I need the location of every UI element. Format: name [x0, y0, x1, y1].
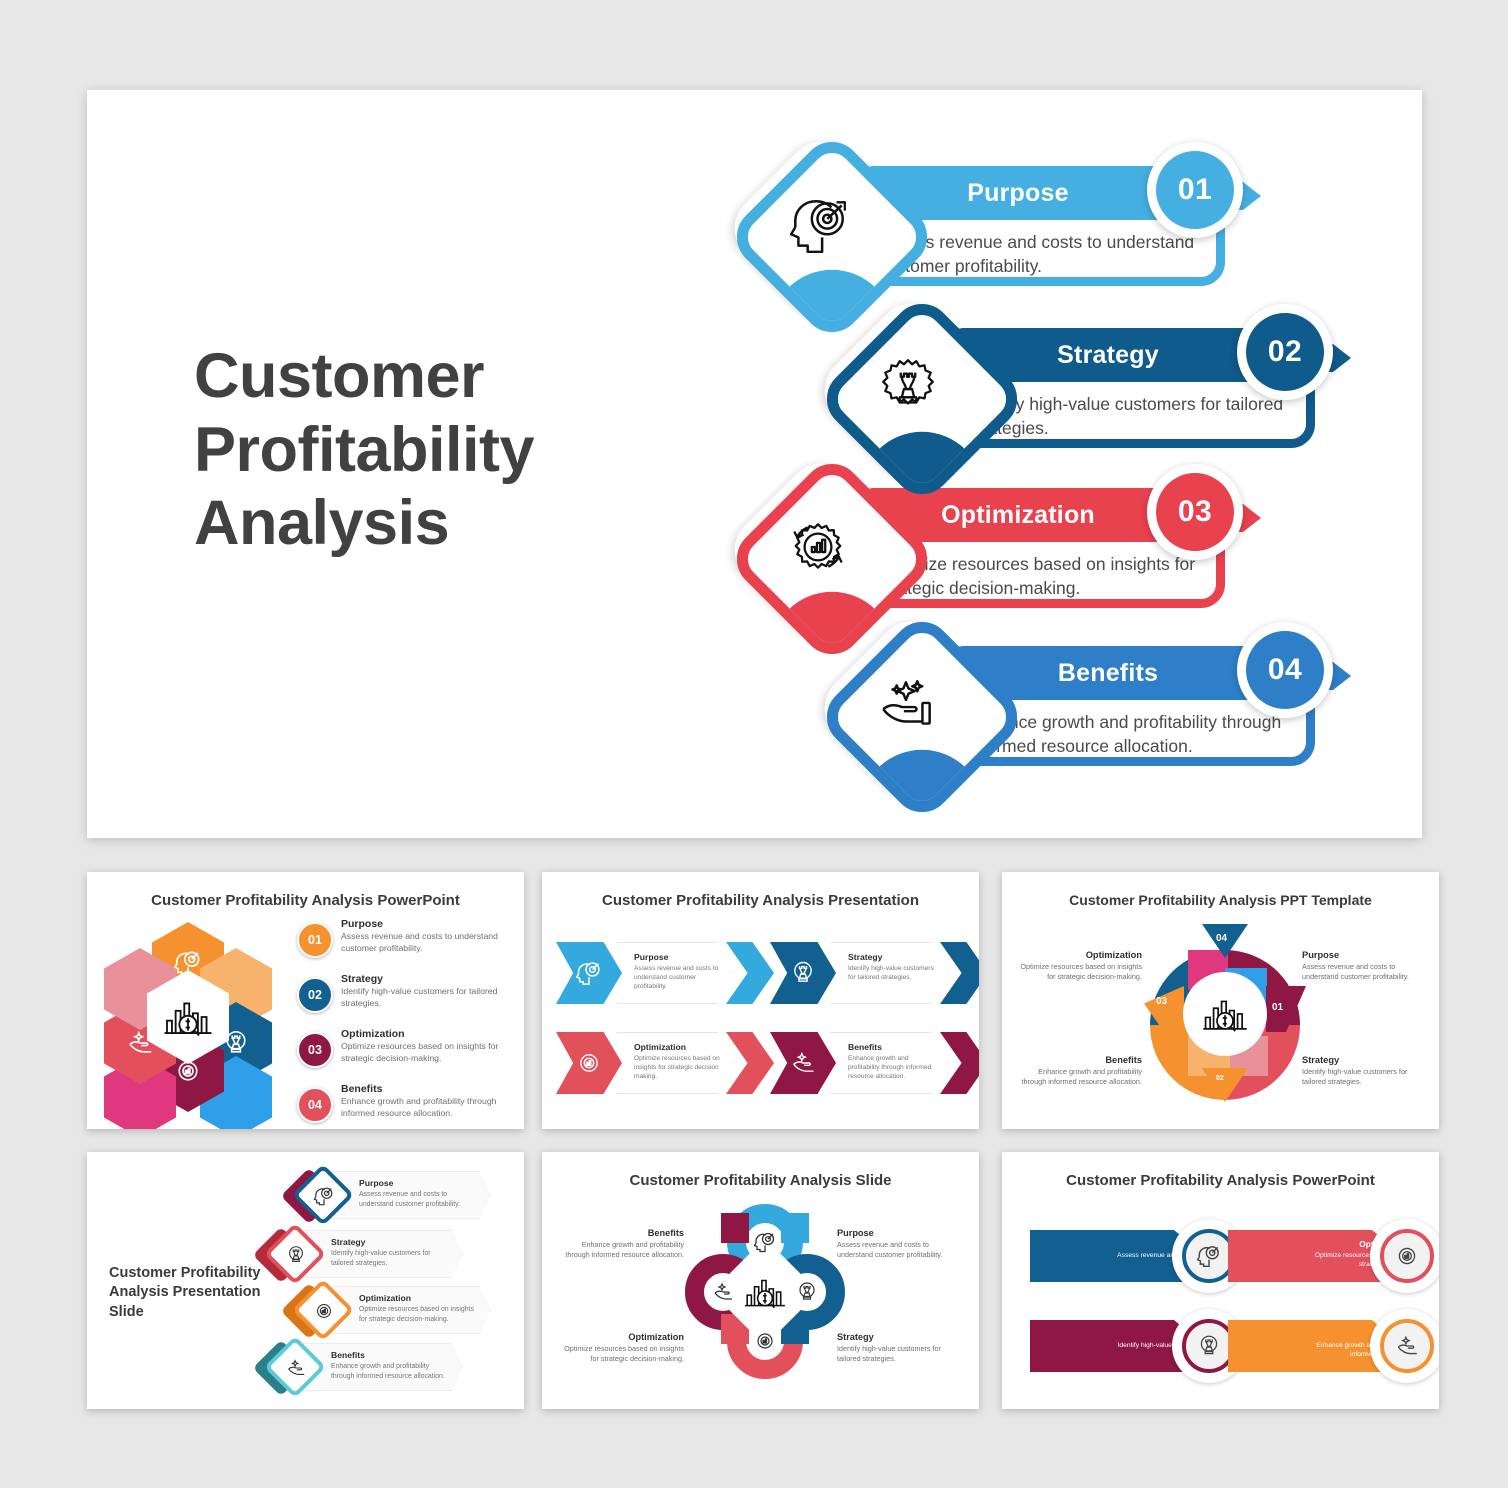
- thumbnail-title: Customer Profitability Analysis Presenta…: [542, 892, 979, 909]
- head-target-icon: [311, 1183, 337, 1209]
- step-number-badge: 02: [1237, 304, 1333, 400]
- chevron-strategy[interactable]: Strategy Identify high-value customers f…: [770, 942, 979, 1004]
- step-card-04[interactable]: Benefits Enhance growth and profitabilit…: [837, 628, 1337, 778]
- item-number: 02: [297, 977, 333, 1013]
- item-title: Strategy: [837, 1332, 965, 1342]
- item-title: Benefits: [331, 1350, 365, 1360]
- chevron-purpose[interactable]: Purpose Assess revenue and costs to unde…: [556, 942, 776, 1004]
- head-target-icon: [781, 188, 855, 262]
- chess-gear-icon: [792, 1277, 822, 1307]
- item-desc: Enhance growth and profitability through…: [556, 1240, 684, 1260]
- item-desc: Optimize resources based on insights for…: [1012, 962, 1142, 982]
- item-title: Optimization: [341, 1028, 405, 1040]
- item-desc: Assess revenue and costs to understand c…: [341, 931, 506, 954]
- item-title: Optimization: [556, 1332, 684, 1342]
- item-desc: Enhance growth and profitability through…: [341, 1096, 506, 1119]
- item-desc: Identify high-value customers for tailor…: [341, 986, 506, 1009]
- gear-chart-icon: [311, 1298, 337, 1324]
- step-number-badge: 04: [1237, 622, 1333, 718]
- diamond-row-purpose[interactable]: Purpose Assess revenue and costs to unde…: [289, 1170, 504, 1224]
- item-title: Benefits: [556, 1228, 684, 1238]
- hand-sparkle-icon: [283, 1355, 309, 1381]
- step-number: 03: [1156, 996, 1167, 1007]
- list-item[interactable]: 01 Purpose Assess revenue and costs to u…: [297, 918, 512, 966]
- hexagon-cluster-graphic: [97, 922, 287, 1112]
- thumbnail-title: Customer Profitability Analysis PPT Temp…: [1002, 892, 1439, 908]
- page-title: Customer Profitability Analysis: [194, 340, 614, 561]
- gear-chart-icon: [781, 510, 855, 584]
- label-purpose: Purpose Assess revenue and costs to unde…: [837, 1228, 965, 1260]
- item-desc: Assess revenue and costs to understand c…: [359, 1190, 481, 1209]
- item-title: Purpose: [634, 952, 668, 962]
- label-purpose: Purpose Assess revenue and costs to unde…: [1302, 950, 1432, 982]
- step-number-badge: 01: [1147, 142, 1243, 238]
- item-title: Purpose: [341, 918, 383, 930]
- chevron-optimization[interactable]: Optimization Optimize resources based on…: [556, 1032, 776, 1094]
- item-desc: Assess revenue and costs to understand c…: [634, 964, 720, 992]
- item-desc: Enhance growth and profitability through…: [1012, 1067, 1142, 1087]
- banner-purpose[interactable]: Purpose Assess revenue and costs to unde…: [1030, 1230, 1250, 1282]
- center-chart-icon: [1183, 972, 1267, 1056]
- numbered-list: 01 Purpose Assess revenue and costs to u…: [297, 918, 512, 1129]
- step-card-01[interactable]: Purpose Assess revenue and costs to unde…: [747, 148, 1247, 298]
- item-desc: Optimize resources based on insights for…: [341, 1041, 506, 1064]
- item-desc: Enhance growth and profitability through…: [331, 1362, 453, 1381]
- step-number: 01: [1272, 1002, 1283, 1013]
- step-number: 01: [1156, 151, 1234, 229]
- step-card-02[interactable]: Strategy Identify high-value customers f…: [837, 310, 1337, 460]
- chess-gear-icon: [770, 942, 836, 1004]
- chevron-benefits[interactable]: Benefits Enhance growth and profitabilit…: [770, 1032, 979, 1094]
- main-slide: Customer Profitability Analysis Purpose …: [87, 90, 1422, 838]
- item-desc: Optimize resources based on insights for…: [556, 1344, 684, 1364]
- item-desc: Assess revenue and costs to understand c…: [1302, 962, 1432, 982]
- diamond-row-optimization[interactable]: Optimization Optimize resources based on…: [289, 1285, 504, 1339]
- step-number: 03: [1156, 473, 1234, 551]
- item-title: Benefits: [1012, 1055, 1142, 1065]
- item-desc: Enhance growth and profitability through…: [848, 1054, 934, 1082]
- item-title: Optimization: [359, 1293, 411, 1303]
- item-desc: Identify high-value customers for tailor…: [1302, 1067, 1432, 1087]
- list-item[interactable]: 04 Benefits Enhance growth and profitabi…: [297, 1083, 512, 1129]
- list-item[interactable]: 03 Optimization Optimize resources based…: [297, 1028, 512, 1076]
- thumbnail-chevron-arrows[interactable]: Customer Profitability Analysis Presenta…: [542, 872, 979, 1129]
- item-number: 04: [297, 1087, 333, 1123]
- chess-gear-icon: [871, 350, 945, 424]
- step-number-badge: 03: [1147, 464, 1243, 560]
- list-item[interactable]: 02 Strategy Identify high-value customer…: [297, 973, 512, 1021]
- gear-chart-icon: [750, 1326, 780, 1356]
- thumbnail-title: Customer Profitability Analysis Slide: [542, 1172, 979, 1189]
- clover-graphic: [685, 1204, 845, 1379]
- item-title: Purpose: [1302, 950, 1432, 960]
- infographic-steps: Purpose Assess revenue and costs to unde…: [717, 120, 1407, 820]
- head-target-icon: [556, 942, 622, 1004]
- step-number: 02: [1216, 1075, 1224, 1082]
- item-number: 01: [297, 922, 333, 958]
- step-number: 04: [1216, 933, 1227, 944]
- thumbnail-diamond-ribbons[interactable]: Customer Profitability Analysis Presenta…: [87, 1152, 524, 1409]
- label-strategy: Strategy Identify high-value customers f…: [1302, 1055, 1432, 1087]
- hand-sparkle-icon: [708, 1277, 738, 1307]
- thumbnail-circular-arrows[interactable]: Customer Profitability Analysis PPT Temp…: [1002, 872, 1439, 1129]
- item-title: Optimization: [634, 1042, 686, 1052]
- thumbnail-banner-circles[interactable]: Customer Profitability Analysis PowerPoi…: [1002, 1152, 1439, 1409]
- item-title: Purpose: [837, 1228, 965, 1238]
- thumbnail-grid: Customer Profitability Analysis PowerPoi…: [0, 865, 1508, 1425]
- item-title: Purpose: [359, 1178, 393, 1188]
- item-title: Strategy: [341, 973, 383, 985]
- hand-sparkle-icon: [871, 668, 945, 742]
- thumbnail-clover-petals[interactable]: Customer Profitability Analysis Slide: [542, 1152, 979, 1409]
- banner-optimization[interactable]: Optimization Optimize resources based on…: [1228, 1230, 1439, 1282]
- item-desc: Assess revenue and costs to understand c…: [837, 1240, 965, 1260]
- thumbnail-title: Customer Profitability Analysis Presenta…: [109, 1264, 279, 1322]
- step-number: 02: [1246, 313, 1324, 391]
- banner-benefits[interactable]: Benefits Enhance growth and profitabilit…: [1228, 1320, 1439, 1372]
- gear-chart-icon: [1380, 1229, 1434, 1283]
- circular-arrow-graphic: 04 01 02 03: [1150, 924, 1300, 1102]
- diamond-row-benefits[interactable]: Benefits Enhance growth and profitabilit…: [261, 1342, 476, 1396]
- item-desc: Optimize resources based on insights for…: [634, 1054, 720, 1082]
- item-number: 03: [297, 1032, 333, 1068]
- step-icon-diamond: [747, 152, 895, 300]
- step-icon-diamond: [837, 314, 985, 462]
- step-card-03[interactable]: Optimization Optimize resources based on…: [747, 470, 1247, 620]
- label-strategy: Strategy Identify high-value customers f…: [837, 1332, 965, 1364]
- step-number: 04: [1246, 631, 1324, 709]
- label-optimization: Optimization Optimize resources based on…: [1012, 950, 1142, 982]
- diamond-row-strategy[interactable]: Strategy Identify high-value customers f…: [261, 1229, 476, 1283]
- item-desc: Identify high-value customers for tailor…: [848, 964, 934, 982]
- item-title: Strategy: [1302, 1055, 1432, 1065]
- hand-sparkle-icon: [1380, 1319, 1434, 1373]
- item-title: Strategy: [848, 952, 882, 962]
- item-title: Benefits: [341, 1083, 382, 1095]
- step-icon-diamond: [837, 632, 985, 780]
- step-icon-diamond: [747, 474, 895, 622]
- item-title: Optimization: [1012, 950, 1142, 960]
- banner-strategy[interactable]: Strategy Identify high-value customers f…: [1030, 1320, 1250, 1372]
- item-desc: Identify high-value customers for tailor…: [331, 1249, 453, 1268]
- label-benefits: Benefits Enhance growth and profitabilit…: [1012, 1055, 1142, 1087]
- item-title: Benefits: [848, 1042, 882, 1052]
- head-target-icon: [750, 1227, 780, 1257]
- hand-sparkle-icon: [770, 1032, 836, 1094]
- item-desc: Optimize resources based on insights for…: [359, 1305, 481, 1324]
- item-title: Strategy: [331, 1237, 365, 1247]
- label-optimization: Optimization Optimize resources based on…: [556, 1332, 684, 1364]
- label-benefits: Benefits Enhance growth and profitabilit…: [556, 1228, 684, 1260]
- chess-gear-icon: [283, 1242, 309, 1268]
- thumbnail-hexagon-cluster[interactable]: Customer Profitability Analysis PowerPoi…: [87, 872, 524, 1129]
- item-desc: Identify high-value customers for tailor…: [837, 1344, 965, 1364]
- gear-chart-icon: [556, 1032, 622, 1094]
- thumbnail-title: Customer Profitability Analysis PowerPoi…: [87, 892, 524, 909]
- thumbnail-title: Customer Profitability Analysis PowerPoi…: [1002, 1172, 1439, 1189]
